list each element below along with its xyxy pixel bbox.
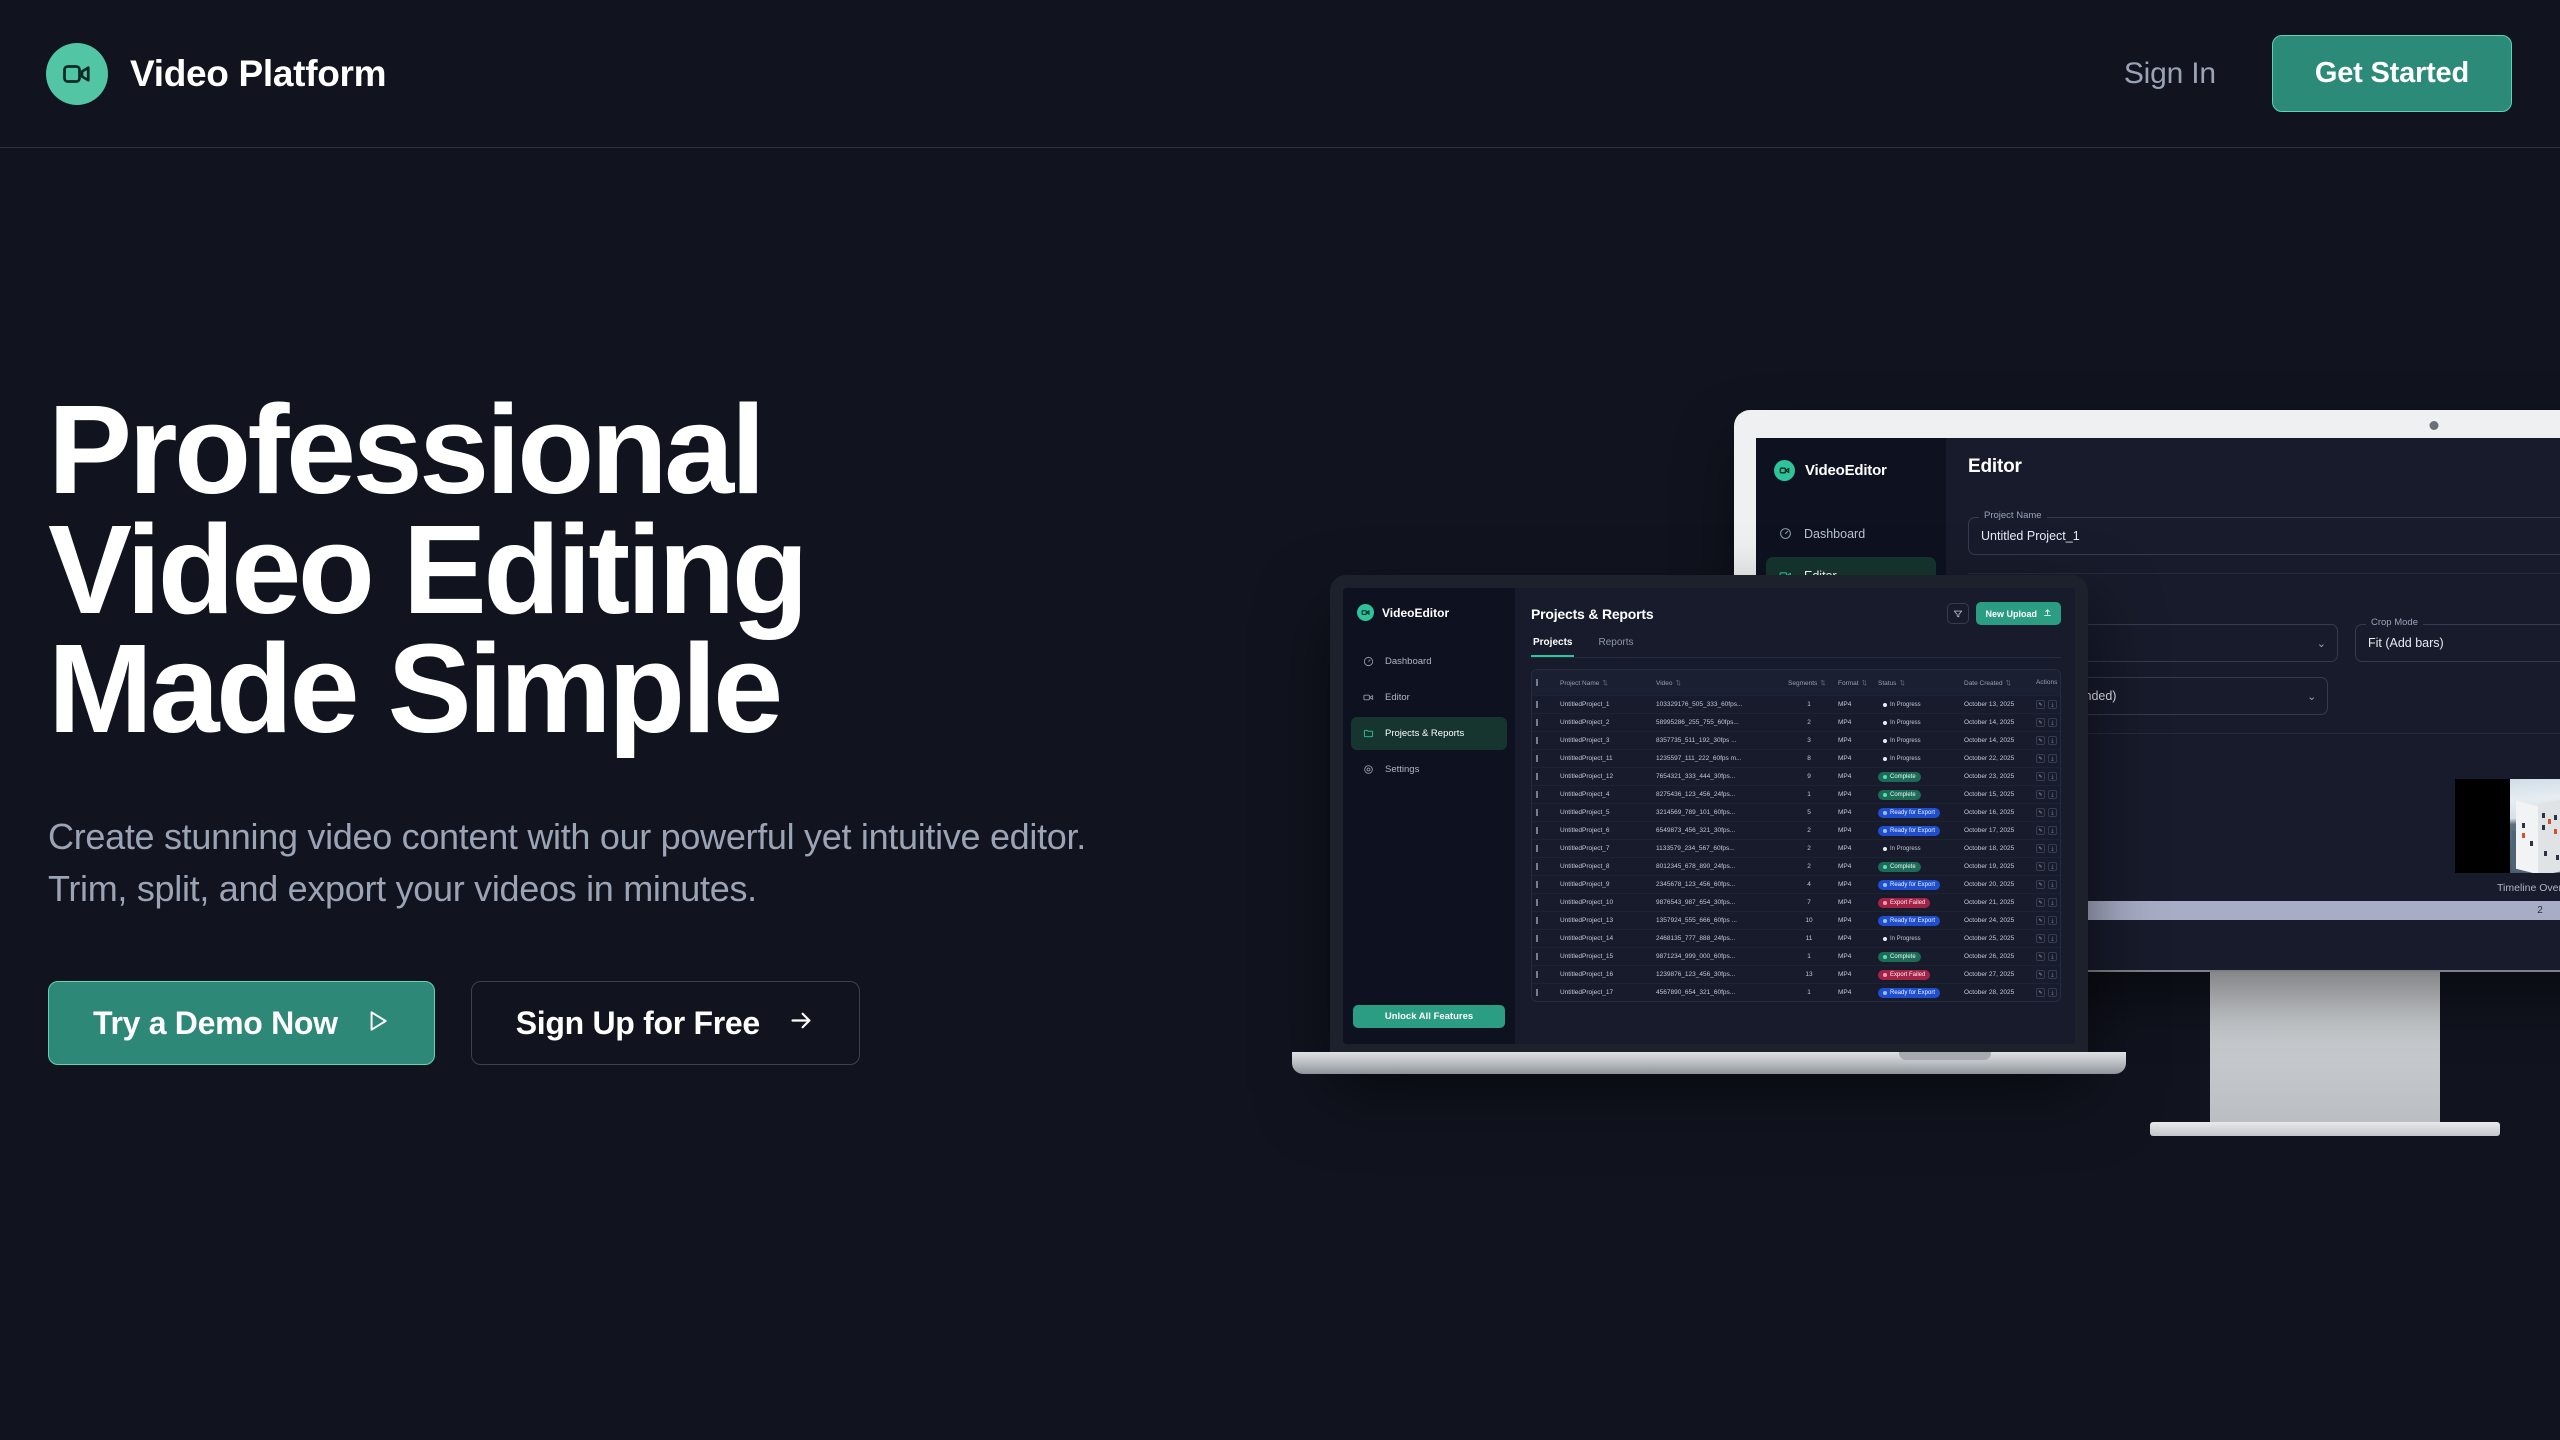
row-checkbox[interactable] xyxy=(1532,935,1556,942)
cell-date-created: October 19, 2025 xyxy=(1960,863,2032,870)
export-icon[interactable]: ⤓ xyxy=(2048,880,2057,889)
brand-name: Video Platform xyxy=(130,53,386,95)
cell-format: MP4 xyxy=(1834,701,1874,708)
cell-project-name: UntitledProject_11 xyxy=(1556,755,1652,762)
delete-icon[interactable]: 🗑 xyxy=(2060,700,2061,709)
cell-actions: ✎⤓🗑 xyxy=(2032,754,2061,763)
cell-actions: ✎⤓🗑 xyxy=(2032,718,2061,727)
table-row[interactable]: UntitledProject_71133579_234_567_60fps..… xyxy=(1532,839,2060,857)
editor-brand-name: VideoEditor xyxy=(1805,462,1887,479)
status-badge: Complete xyxy=(1878,790,1921,800)
export-icon[interactable]: ⤓ xyxy=(2048,808,2057,817)
edit-icon[interactable]: ✎ xyxy=(2036,988,2045,997)
video-preview-player[interactable] xyxy=(2455,779,2560,873)
cell-format: MP4 xyxy=(1834,953,1874,960)
try-demo-label: Try a Demo Now xyxy=(93,1005,338,1042)
laptop-main: Projects & Reports New Upload Projects R… xyxy=(1515,588,2075,1044)
sidebar-item-editor[interactable]: Editor xyxy=(1351,681,1507,714)
cell-date-created: October 18, 2025 xyxy=(1960,845,2032,852)
cell-project-name: UntitledProject_12 xyxy=(1556,773,1652,780)
column-segments[interactable]: Segments⇅ xyxy=(1784,679,1834,687)
table-row[interactable]: UntitledProject_53214569_789_101_60fps..… xyxy=(1532,803,2060,821)
sidebar-label: Projects & Reports xyxy=(1385,728,1464,739)
sidebar-item-dashboard[interactable]: Dashboard xyxy=(1351,645,1507,678)
status-badge: Complete xyxy=(1878,862,1921,872)
brand-logo[interactable]: Video Platform xyxy=(46,43,386,105)
status-badge: Ready for Export xyxy=(1878,808,1940,818)
cell-status: Ready for Export xyxy=(1874,988,1960,998)
laptop-sidebar: VideoEditor Dashboard Editor Projects & … xyxy=(1343,588,1515,1044)
edit-icon[interactable]: ✎ xyxy=(2036,934,2045,943)
cell-segments: 3 xyxy=(1784,737,1834,744)
cell-actions: ✎⤓🗑 xyxy=(2032,790,2061,799)
folder-icon xyxy=(1361,726,1376,741)
table-row[interactable]: UntitledProject_66549873_456_321_30fps..… xyxy=(1532,821,2060,839)
sort-icon: ⇅ xyxy=(2006,680,2011,687)
table-row[interactable]: UntitledProject_1103329176_505_333_60fps… xyxy=(1532,695,2060,713)
cell-status: In Progress xyxy=(1874,754,1960,764)
cell-segments: 1 xyxy=(1784,701,1834,708)
delete-icon[interactable]: 🗑 xyxy=(2060,844,2061,853)
tab-reports[interactable]: Reports xyxy=(1596,637,1635,657)
cell-format: MP4 xyxy=(1834,773,1874,780)
cell-video: 1357924_555_666_60fps ... xyxy=(1652,917,1784,924)
status-badge: Ready for Export xyxy=(1878,916,1940,926)
sidebar-item-dashboard[interactable]: Dashboard xyxy=(1766,515,1936,552)
edit-icon[interactable]: ✎ xyxy=(2036,700,2045,709)
hero-subtitle: Create stunning video content with our p… xyxy=(48,811,1098,915)
project-name-value: Untitled Project_1 xyxy=(1981,529,2080,543)
cell-segments: 13 xyxy=(1784,971,1834,978)
cell-date-created: October 17, 2025 xyxy=(1960,827,2032,834)
cell-date-created: October 28, 2025 xyxy=(1960,989,2032,996)
cell-actions: ✎⤓🗑 xyxy=(2032,808,2061,817)
export-icon[interactable]: ⤓ xyxy=(2048,916,2057,925)
column-video[interactable]: Video⇅ xyxy=(1652,679,1784,687)
delete-icon[interactable]: 🗑 xyxy=(2060,988,2061,997)
cell-format: MP4 xyxy=(1834,719,1874,726)
cell-actions: ✎⤓🗑 xyxy=(2032,700,2061,709)
cell-actions: ✎⤓🗑 xyxy=(2032,952,2061,961)
cell-project-name: UntitledProject_16 xyxy=(1556,971,1652,978)
cell-video: 1133579_234_567_60fps... xyxy=(1652,845,1784,852)
delete-icon[interactable]: 🗑 xyxy=(2060,754,2061,763)
cell-project-name: UntitledProject_8 xyxy=(1556,863,1652,870)
status-badge: In Progress xyxy=(1878,844,1926,854)
cell-project-name: UntitledProject_5 xyxy=(1556,809,1652,816)
sort-icon: ⇅ xyxy=(1676,680,1681,687)
table-row[interactable]: UntitledProject_161239876_123_456_30fps.… xyxy=(1532,965,2060,983)
sort-icon: ⇅ xyxy=(1602,680,1607,687)
crop-mode-select[interactable]: Crop Mode Fit (Add bars) ⌄ xyxy=(2355,624,2560,662)
export-icon[interactable]: ⤓ xyxy=(2048,898,2057,907)
cell-segments: 7 xyxy=(1784,899,1834,906)
sign-up-label: Sign Up for Free xyxy=(516,1005,760,1042)
cell-segments: 5 xyxy=(1784,809,1834,816)
cell-format: MP4 xyxy=(1834,899,1874,906)
column-date-created[interactable]: Date Created⇅ xyxy=(1960,679,2032,687)
upload-icon xyxy=(2043,608,2052,619)
sidebar-item-settings[interactable]: Settings xyxy=(1351,753,1507,786)
cell-date-created: October 24, 2025 xyxy=(1960,917,2032,924)
cell-project-name: UntitledProject_13 xyxy=(1556,917,1652,924)
edit-icon[interactable]: ✎ xyxy=(2036,844,2045,853)
cell-status: Ready for Export xyxy=(1874,916,1960,926)
cell-date-created: October 14, 2025 xyxy=(1960,719,2032,726)
row-checkbox[interactable] xyxy=(1532,881,1556,888)
try-demo-button[interactable]: Try a Demo Now xyxy=(48,981,435,1065)
export-icon[interactable]: ⤓ xyxy=(2048,970,2057,979)
cell-date-created: October 23, 2025 xyxy=(1960,773,2032,780)
cell-format: MP4 xyxy=(1834,809,1874,816)
column-status[interactable]: Status⇅ xyxy=(1874,679,1960,687)
cell-segments: 9 xyxy=(1784,773,1834,780)
cell-video: 2468135_777_888_24fps... xyxy=(1652,935,1784,942)
edit-icon[interactable]: ✎ xyxy=(2036,826,2045,835)
sort-icon: ⇅ xyxy=(1899,680,1904,687)
edit-icon[interactable]: ✎ xyxy=(2036,754,2045,763)
table-row[interactable]: UntitledProject_38357735_511_192_30fps .… xyxy=(1532,731,2060,749)
new-upload-button[interactable]: New Upload xyxy=(1976,602,2061,625)
site-header: Video Platform Sign In Get Started xyxy=(0,0,2560,148)
cell-status: Complete xyxy=(1874,790,1960,800)
cell-status: In Progress xyxy=(1874,844,1960,854)
sidebar-item-projects-reports[interactable]: Projects & Reports xyxy=(1351,717,1507,750)
cell-project-name: UntitledProject_10 xyxy=(1556,899,1652,906)
cell-segments: 11 xyxy=(1784,935,1834,942)
laptop-page-header: Projects & Reports New Upload xyxy=(1531,602,2061,625)
chevron-down-icon: ⌄ xyxy=(2307,690,2316,703)
monitor-stand-neck xyxy=(2210,970,2440,1130)
cell-status: Complete xyxy=(1874,952,1960,962)
laptop-tabs: Projects Reports xyxy=(1531,637,2061,658)
table-row[interactable]: UntitledProject_127654321_333_444_30fps.… xyxy=(1532,767,2060,785)
cell-status: Complete xyxy=(1874,862,1960,872)
cell-date-created: October 15, 2025 xyxy=(1960,791,2032,798)
editor-page-title: Editor xyxy=(1968,456,2022,478)
laptop-screen: VideoEditor Dashboard Editor Projects & … xyxy=(1343,588,2075,1044)
edit-icon[interactable]: ✎ xyxy=(2036,898,2045,907)
export-icon[interactable]: ⤓ xyxy=(2048,988,2057,997)
cell-status: Ready for Export xyxy=(1874,880,1960,890)
row-checkbox[interactable] xyxy=(1532,899,1556,906)
edit-icon[interactable]: ✎ xyxy=(2036,718,2045,727)
cell-project-name: UntitledProject_6 xyxy=(1556,827,1652,834)
cell-project-name: UntitledProject_15 xyxy=(1556,953,1652,960)
delete-icon[interactable]: 🗑 xyxy=(2060,736,2061,745)
row-checkbox[interactable] xyxy=(1532,989,1556,996)
row-checkbox[interactable] xyxy=(1532,791,1556,798)
export-icon[interactable]: ⤓ xyxy=(2048,844,2057,853)
cell-date-created: October 27, 2025 xyxy=(1960,971,2032,978)
cell-format: MP4 xyxy=(1834,917,1874,924)
filter-icon[interactable] xyxy=(1947,603,1969,624)
table-row[interactable]: UntitledProject_131357924_555_666_60fps … xyxy=(1532,911,2060,929)
edit-icon[interactable]: ✎ xyxy=(2036,808,2045,817)
cell-video: 103329176_505_333_60fps... xyxy=(1652,701,1784,708)
project-name-section: Project Name Untitled Project_1 xyxy=(1946,491,2560,574)
play-triangle-icon xyxy=(364,1005,390,1042)
cell-actions: ✎⤓🗑 xyxy=(2032,898,2061,907)
monitor-stand-foot xyxy=(2150,1122,2500,1136)
delete-icon[interactable]: 🗑 xyxy=(2060,934,2061,943)
crop-mode-label: Crop Mode xyxy=(2366,617,2423,628)
delete-icon[interactable]: 🗑 xyxy=(2060,826,2061,835)
delete-icon[interactable]: 🗑 xyxy=(2060,970,2061,979)
cell-actions: ✎⤓🗑 xyxy=(2032,826,2061,835)
project-name-label: Project Name xyxy=(1979,510,2047,521)
cell-project-name: UntitledProject_17 xyxy=(1556,989,1652,996)
cell-actions: ✎⤓🗑 xyxy=(2032,988,2061,997)
cell-video: 9876543_987_654_30fps... xyxy=(1652,899,1784,906)
projects-table: Project Name⇅ Video⇅ Segments⇅ Format⇅ S… xyxy=(1531,669,2061,1002)
cell-date-created: October 26, 2025 xyxy=(1960,953,2032,960)
cell-actions: ✎⤓🗑 xyxy=(2032,736,2061,745)
delete-icon[interactable]: 🗑 xyxy=(2060,916,2061,925)
gear-icon xyxy=(1361,762,1376,777)
row-checkbox[interactable] xyxy=(1532,701,1556,708)
cell-format: MP4 xyxy=(1834,755,1874,762)
status-badge: Export Failed xyxy=(1878,898,1930,908)
status-badge: In Progress xyxy=(1878,754,1926,764)
cell-format: MP4 xyxy=(1834,845,1874,852)
cell-segments: 2 xyxy=(1784,845,1834,852)
video-camera-icon xyxy=(1361,690,1376,705)
cell-format: MP4 xyxy=(1834,827,1874,834)
delete-icon[interactable]: 🗑 xyxy=(2060,718,2061,727)
table-body: UntitledProject_1103329176_505_333_60fps… xyxy=(1532,695,2060,1001)
delete-icon[interactable]: 🗑 xyxy=(2060,898,2061,907)
cell-segments: 2 xyxy=(1784,827,1834,834)
cell-status: Ready for Export xyxy=(1874,808,1960,818)
hero-title-line-3: Made Simple xyxy=(48,629,1098,749)
export-icon[interactable]: ⤓ xyxy=(2048,700,2057,709)
sidebar-label: Settings xyxy=(1385,764,1419,775)
row-checkbox[interactable] xyxy=(1532,719,1556,726)
edit-icon[interactable]: ✎ xyxy=(2036,736,2045,745)
table-row[interactable]: UntitledProject_92345678_123_456_60fps..… xyxy=(1532,875,2060,893)
cell-status: Export Failed xyxy=(1874,898,1960,908)
sidebar-label: Dashboard xyxy=(1804,527,1865,541)
product-mockup: VideoEditor Dashboard Editor xyxy=(1330,380,2560,1200)
row-checkbox[interactable] xyxy=(1532,755,1556,762)
get-started-button[interactable]: Get Started xyxy=(2272,35,2512,112)
delete-icon[interactable]: 🗑 xyxy=(2060,880,2061,889)
cell-date-created: October 16, 2025 xyxy=(1960,809,2032,816)
cell-date-created: October 25, 2025 xyxy=(1960,935,2032,942)
laptop-base xyxy=(1292,1052,2126,1074)
row-checkbox[interactable] xyxy=(1532,809,1556,816)
delete-icon[interactable]: 🗑 xyxy=(2060,790,2061,799)
cell-segments: 1 xyxy=(1784,989,1834,996)
row-checkbox[interactable] xyxy=(1532,971,1556,978)
status-badge: In Progress xyxy=(1878,934,1926,944)
tab-projects[interactable]: Projects xyxy=(1531,637,1574,657)
row-checkbox[interactable] xyxy=(1532,953,1556,960)
edit-icon[interactable]: ✎ xyxy=(2036,916,2045,925)
table-row[interactable]: UntitledProject_48275436_123_456_24fps..… xyxy=(1532,785,2060,803)
export-icon[interactable]: ⤓ xyxy=(2048,754,2057,763)
laptop-nav: Dashboard Editor Projects & Reports Sett… xyxy=(1343,645,1515,786)
cell-segments: 1 xyxy=(1784,791,1834,798)
preview-frame-image xyxy=(2510,779,2560,873)
cell-status: In Progress xyxy=(1874,934,1960,944)
table-header-row: Project Name⇅ Video⇅ Segments⇅ Format⇅ S… xyxy=(1532,670,2060,695)
cell-actions: ✎⤓🗑 xyxy=(2032,880,2061,889)
cell-date-created: October 13, 2025 xyxy=(1960,701,2032,708)
hero-title-line-2: Video Editing xyxy=(48,510,1098,630)
page-title: Professional Video Editing Made Simple xyxy=(48,390,1098,749)
cell-status: In Progress xyxy=(1874,700,1960,710)
laptop-page-title: Projects & Reports xyxy=(1531,606,1653,622)
column-format[interactable]: Format⇅ xyxy=(1834,679,1874,687)
table-row[interactable]: UntitledProject_142468135_777_888_24fps.… xyxy=(1532,929,2060,947)
delete-icon[interactable]: 🗑 xyxy=(2060,862,2061,871)
laptop-brand: VideoEditor xyxy=(1343,604,1515,621)
cell-video: 1235597_111_222_60fps m... xyxy=(1652,755,1784,762)
row-checkbox[interactable] xyxy=(1532,827,1556,834)
laptop-header-actions: New Upload xyxy=(1947,602,2061,625)
edit-icon[interactable]: ✎ xyxy=(2036,952,2045,961)
editor-brand: VideoEditor xyxy=(1756,460,1946,481)
status-badge: In Progress xyxy=(1878,718,1926,728)
export-icon[interactable]: ⤓ xyxy=(2048,826,2057,835)
cell-video: 3214569_789_101_60fps... xyxy=(1652,809,1784,816)
gauge-icon xyxy=(1778,526,1793,541)
export-icon[interactable]: ⤓ xyxy=(2048,736,2057,745)
table-row[interactable]: UntitledProject_159871234_999_000_60fps.… xyxy=(1532,947,2060,965)
export-icon[interactable]: ⤓ xyxy=(2048,934,2057,943)
cell-video: 8012345_678_890_24fps... xyxy=(1652,863,1784,870)
header-actions: Sign In Get Started xyxy=(2124,35,2512,112)
status-badge: Ready for Export xyxy=(1878,826,1940,836)
delete-icon[interactable]: 🗑 xyxy=(2060,772,2061,781)
cell-actions: ✎⤓🗑 xyxy=(2032,916,2061,925)
cell-video: 8275436_123_456_24fps... xyxy=(1652,791,1784,798)
cell-project-name: UntitledProject_4 xyxy=(1556,791,1652,798)
row-checkbox[interactable] xyxy=(1532,917,1556,924)
sign-in-button[interactable]: Sign In xyxy=(2124,57,2216,91)
cell-video: 9871234_999_000_60fps... xyxy=(1652,953,1784,960)
cell-actions: ✎⤓🗑 xyxy=(2032,970,2061,979)
project-name-field[interactable]: Project Name Untitled Project_1 xyxy=(1968,517,2560,555)
export-icon[interactable]: ⤓ xyxy=(2048,790,2057,799)
edit-icon[interactable]: ✎ xyxy=(2036,772,2045,781)
webcam-icon xyxy=(2430,421,2439,430)
cell-video: 58995286_255_755_60fps... xyxy=(1652,719,1784,726)
cell-status: Export Failed xyxy=(1874,970,1960,980)
cell-segments: 4 xyxy=(1784,881,1834,888)
column-project-name[interactable]: Project Name⇅ xyxy=(1556,679,1652,687)
cell-format: MP4 xyxy=(1834,881,1874,888)
cell-actions: ✎⤓🗑 xyxy=(2032,772,2061,781)
cell-date-created: October 14, 2025 xyxy=(1960,737,2032,744)
hero-section: Professional Video Editing Made Simple C… xyxy=(48,390,1098,1065)
edit-icon[interactable]: ✎ xyxy=(2036,970,2045,979)
chevron-down-icon: ⌄ xyxy=(2317,637,2326,650)
edit-icon[interactable]: ✎ xyxy=(2036,862,2045,871)
table-row[interactable]: UntitledProject_88012345_678_890_24fps..… xyxy=(1532,857,2060,875)
video-camera-icon xyxy=(1357,604,1374,621)
status-badge: In Progress xyxy=(1878,736,1926,746)
cell-project-name: UntitledProject_9 xyxy=(1556,881,1652,888)
cell-project-name: UntitledProject_14 xyxy=(1556,935,1652,942)
cell-date-created: October 22, 2025 xyxy=(1960,755,2032,762)
export-icon[interactable]: ⤓ xyxy=(2048,862,2057,871)
cell-format: MP4 xyxy=(1834,935,1874,942)
laptop-notch xyxy=(1899,1052,1991,1060)
column-actions: Actions xyxy=(2032,679,2061,686)
status-badge: Complete xyxy=(1878,772,1921,782)
cell-project-name: UntitledProject_2 xyxy=(1556,719,1652,726)
row-checkbox[interactable] xyxy=(1532,773,1556,780)
cell-video: 6549873_456_321_30fps... xyxy=(1652,827,1784,834)
cell-project-name: UntitledProject_7 xyxy=(1556,845,1652,852)
cell-segments: 10 xyxy=(1784,917,1834,924)
cell-video: 4567890_654_321_60fps... xyxy=(1652,989,1784,996)
sign-up-free-button[interactable]: Sign Up for Free xyxy=(471,981,860,1065)
laptop-device: VideoEditor Dashboard Editor Projects & … xyxy=(1330,575,2088,1057)
export-icon[interactable]: ⤓ xyxy=(2048,952,2057,961)
cell-project-name: UntitledProject_1 xyxy=(1556,701,1652,708)
edit-icon[interactable]: ✎ xyxy=(2036,790,2045,799)
table-row[interactable]: UntitledProject_109876543_987_654_30fps.… xyxy=(1532,893,2060,911)
sort-icon: ⇅ xyxy=(1862,680,1867,687)
row-checkbox[interactable] xyxy=(1532,845,1556,852)
hero-cta-group: Try a Demo Now Sign Up for Free xyxy=(48,981,1098,1065)
status-badge: Ready for Export xyxy=(1878,988,1940,998)
sidebar-label: Editor xyxy=(1385,692,1410,703)
cell-segments: 8 xyxy=(1784,755,1834,762)
status-badge: Ready for Export xyxy=(1878,880,1940,890)
table-row[interactable]: UntitledProject_111235597_111_222_60fps … xyxy=(1532,749,2060,767)
unlock-all-features-button[interactable]: Unlock All Features xyxy=(1353,1005,1505,1028)
cell-segments: 2 xyxy=(1784,719,1834,726)
cell-format: MP4 xyxy=(1834,989,1874,996)
delete-icon[interactable]: 🗑 xyxy=(2060,808,2061,817)
select-all-checkbox[interactable] xyxy=(1532,679,1556,686)
cell-status: In Progress xyxy=(1874,736,1960,746)
row-checkbox[interactable] xyxy=(1532,737,1556,744)
cell-video: 8357735_511_192_30fps ... xyxy=(1652,737,1784,744)
laptop-brand-name: VideoEditor xyxy=(1382,606,1449,620)
cell-format: MP4 xyxy=(1834,971,1874,978)
table-row[interactable]: UntitledProject_258995286_255_755_60fps.… xyxy=(1532,713,2060,731)
gauge-icon xyxy=(1361,654,1376,669)
cell-status: In Progress xyxy=(1874,718,1960,728)
edit-icon[interactable]: ✎ xyxy=(2036,880,2045,889)
sidebar-label: Dashboard xyxy=(1385,656,1431,667)
delete-icon[interactable]: 🗑 xyxy=(2060,952,2061,961)
video-camera-icon xyxy=(1774,460,1795,481)
row-checkbox[interactable] xyxy=(1532,863,1556,870)
cell-video: 7654321_333_444_30fps... xyxy=(1652,773,1784,780)
cell-video: 1239876_123_456_30fps... xyxy=(1652,971,1784,978)
crop-mode-value: Fit (Add bars) xyxy=(2368,636,2444,650)
video-camera-icon xyxy=(46,43,108,105)
status-badge: Export Failed xyxy=(1878,970,1930,980)
export-icon[interactable]: ⤓ xyxy=(2048,772,2057,781)
cell-actions: ✎⤓🗑 xyxy=(2032,844,2061,853)
cell-segments: 2 xyxy=(1784,863,1834,870)
table-row[interactable]: UntitledProject_174567890_654_321_60fps.… xyxy=(1532,983,2060,1001)
cell-video: 2345678_123_456_60fps... xyxy=(1652,881,1784,888)
hero-title-line-1: Professional xyxy=(48,390,1098,510)
export-icon[interactable]: ⤓ xyxy=(2048,718,2057,727)
cell-project-name: UntitledProject_3 xyxy=(1556,737,1652,744)
cell-date-created: October 20, 2025 xyxy=(1960,881,2032,888)
cell-segments: 1 xyxy=(1784,953,1834,960)
